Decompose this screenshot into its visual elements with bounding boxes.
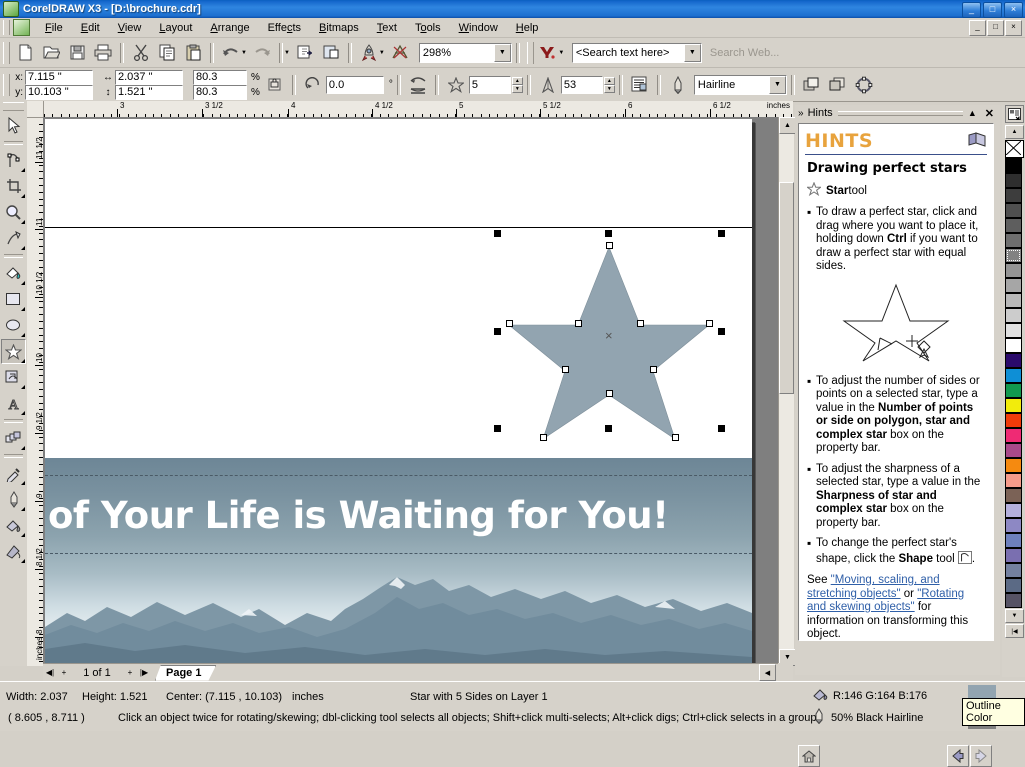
add-page-before-button[interactable]: + [57,666,71,680]
status-units: inches [292,691,324,703]
sharpness-field[interactable]: 53 [561,76,603,94]
ruler-major-tick [35,501,43,502]
toolbox-grip[interactable] [3,102,24,111]
to-back-icon[interactable] [825,72,851,97]
ruler-major-tick [35,229,43,230]
toolbar-separator [516,43,520,63]
doc-close-button[interactable]: × [1005,20,1022,36]
toolbox: A [0,101,28,666]
palette-swatch[interactable] [1005,533,1022,548]
ruler-major-tick [35,365,43,366]
shape-node[interactable] [650,366,657,373]
menu-grip[interactable] [3,20,10,35]
ruler-major-tick [117,109,118,117]
outline-tool[interactable] [1,487,26,512]
maximize-button[interactable]: □ [983,2,1002,18]
percent-label-h: % [251,72,260,83]
fill-tool[interactable] [1,513,26,538]
star-object[interactable]: × [505,234,713,432]
hints-subheading: Drawing perfect stars [807,161,985,176]
star-points-stepper[interactable]: ▲▼ [512,77,523,92]
ruler-major-tick [456,109,457,117]
hints-docker: » Hints ▲ ✕ HINTS Drawing perfect stars … [795,105,1000,675]
page-tab-page-1[interactable]: Page 1 [155,665,216,681]
flyout-arrow-icon[interactable] [21,411,25,415]
palette-swatches [1002,158,1025,608]
save-icon[interactable] [64,40,90,65]
status-height: Height: 1.521 [82,691,147,703]
flyout-arrow-icon[interactable] [21,194,25,198]
menu-item-text[interactable]: Text [368,20,406,36]
flyout-arrow-icon[interactable] [21,559,25,563]
hints-tool-suffix: tool [848,185,867,197]
import-icon[interactable] [292,40,318,65]
y-position-field[interactable]: 10.103 " [25,85,93,100]
scroll-up-button[interactable]: ▲ [779,117,796,134]
property-separator-2 [397,75,401,95]
star-icon [807,182,821,199]
docker-title-rule [838,111,963,116]
hints-tool-line: Star tool [807,182,985,199]
doc-restore-button[interactable]: □ [987,20,1004,36]
docker-title: Hints [808,107,833,119]
palette-scroll-up-button[interactable]: ▲ [1005,125,1024,139]
menu-item-tools[interactable]: Tools [406,20,450,36]
rectangle-tool[interactable] [1,287,26,312]
palette-swatch[interactable] [1005,428,1022,443]
flyout-arrow-icon[interactable] [21,507,25,511]
see-mid: or [901,588,918,600]
no-color-swatch[interactable] [1005,140,1024,158]
menu-item-window[interactable]: Window [450,20,507,36]
shape-node[interactable] [540,434,547,441]
property-separator-1 [292,75,296,95]
palette-swatch[interactable] [1005,338,1022,353]
scrollbar-corner [778,663,793,680]
hint-bullet: ▪ To draw a perfect star, click and drag… [807,206,985,274]
pick-tool[interactable] [1,113,26,138]
palette-swatch[interactable] [1005,353,1022,368]
palette-swatch[interactable] [1005,383,1022,398]
search-web-label[interactable]: Search Web... [710,47,780,59]
percent-label-v: % [251,87,260,98]
paste-icon[interactable] [180,40,206,65]
palette-swatch[interactable] [1005,323,1022,338]
search-chevron-down-icon[interactable]: ▼ [684,44,701,62]
perfect-shapes-tool[interactable] [1,365,26,390]
add-page-after-button[interactable]: + [123,666,137,680]
palette-swatch[interactable] [1005,263,1022,278]
open-icon[interactable] [38,40,64,65]
palette-swatch[interactable] [1005,368,1022,383]
yahoo-icon [539,45,557,60]
shape-node[interactable] [562,366,569,373]
flyout-arrow-icon[interactable] [21,281,25,285]
toolbox-tools: A [0,113,27,564]
shape-node[interactable] [706,320,713,327]
palette-swatch[interactable] [1005,308,1022,323]
standard-toolbar: ▼▼▼ 298% ▼ ▼ <Search text here> ▼ Search… [0,38,1025,68]
property-bar-grip[interactable] [3,74,10,96]
new-icon[interactable] [12,40,38,65]
hint-text: . [972,553,975,565]
flyout-arrow-icon[interactable] [21,333,25,337]
menu-item-edit[interactable]: Edit [72,20,109,36]
palette-swatch[interactable] [1005,458,1022,473]
toolbar-separator [210,43,214,63]
svg-text:A: A [8,398,19,412]
page-divider-line [45,227,752,228]
star-tool[interactable] [1,339,26,364]
shape-node[interactable] [575,320,582,327]
ellipse-tool[interactable] [1,313,26,338]
shape-node[interactable] [637,320,644,327]
toolbox-separator [4,419,23,423]
search-input[interactable]: <Search text here> ▼ [572,43,702,63]
ruler-label: 6 [628,101,632,110]
palette-swatch[interactable] [1005,293,1022,308]
outline-chevron-down-icon[interactable]: ▼ [769,76,786,94]
property-bar: x: 7.115 " y: 10.103 " ↔ 2.037 " ↕ 1.521… [0,68,1025,102]
palette-swatch[interactable] [1005,278,1022,293]
hints-bullets-top: ▪ To draw a perfect star, click and drag… [807,206,985,274]
vertical-scrollbar[interactable]: ▲ ▼ [778,117,794,666]
menu-item-arrange[interactable]: Arrange [201,20,258,36]
flyout-arrow-icon[interactable] [21,481,25,485]
selection-handle[interactable] [494,328,501,335]
hint-bullet-text: To draw a perfect star, click and drag w… [816,206,985,274]
interactive-blend-tool[interactable] [1,426,26,451]
palette-swatch[interactable] [1005,548,1022,563]
flyout-arrow-icon[interactable] [21,246,25,250]
search-toolbar-grip[interactable] [527,42,534,64]
hint-emphasis: Ctrl [887,233,907,245]
palette-swatch[interactable] [1005,578,1022,593]
palette-options-icon[interactable] [1005,105,1024,123]
x-label: x: [12,72,23,83]
hints-see-also: See "Moving, scaling, and stretching obj… [807,574,985,641]
selection-handle[interactable] [718,230,725,237]
selection-handle[interactable] [494,230,501,237]
hints-content[interactable]: HINTS Drawing perfect stars Star tool ▪ … [798,123,994,641]
cut-icon[interactable] [128,40,154,65]
menu-item-file[interactable]: File [36,20,72,36]
ruler-label: 3 1/2 [205,101,223,110]
ruler-major-tick [625,109,626,117]
flyout-arrow-icon[interactable] [21,385,25,389]
window-controls: _ □ × [962,2,1023,18]
mountain-photo-object[interactable]: e of Your Life is Waiting for You! [45,458,752,664]
ruler-label: 6 1/2 [713,101,731,110]
window-title: CorelDRAW X3 - [D:\brochure.cdr] [23,3,201,15]
menu-item-help[interactable]: Help [507,20,548,36]
hint-text: To adjust the sharpness of a selected st… [816,463,980,489]
toolbox-separator [4,454,23,458]
minimize-button[interactable]: _ [962,2,981,18]
smart-fill-tool[interactable] [1,261,26,286]
status-cursor-position: ( 8.605 , 8.711 ) [8,712,85,724]
wrap-paragraph-text-icon[interactable] [627,72,653,97]
menu-item-effects[interactable]: Effects [259,20,310,36]
outline-width-value: Hairline [698,79,735,91]
headline-text[interactable]: e of Your Life is Waiting for You! [45,494,668,537]
shape-tool[interactable] [1,148,26,173]
shape-node[interactable] [606,390,613,397]
hint-emphasis: Shape [898,553,933,565]
palette-swatch[interactable] [1005,488,1022,503]
degree-label: ° [389,79,393,90]
selection-handle[interactable] [605,230,612,237]
hint-bullet-text: To adjust the number of sides or points … [816,375,985,456]
eyedropper-tool[interactable] [1,461,26,486]
hints-bullets-rest: ▪To adjust the number of sides or points… [807,375,985,567]
bullet-marker: ▪ [807,537,816,566]
flyout-arrow-icon[interactable] [21,220,25,224]
rotate-icon [300,72,326,97]
document-icon[interactable] [13,19,30,36]
palette-swatch[interactable] [1005,563,1022,578]
chevron-down-icon[interactable]: ▼ [379,50,385,56]
copy-icon[interactable] [154,40,180,65]
outline-width-combo[interactable]: Hairline ▼ [694,75,787,95]
sharpness-stepper[interactable]: ▲▼ [604,77,615,92]
ruler-major-tick [288,109,289,117]
export-icon[interactable] [318,40,344,65]
status-center: Center: (7.115 , 10.103) [166,691,282,703]
palette-swatch[interactable] [1005,398,1022,413]
scale-factor-group: 80.3 % 80.3 % [193,70,260,100]
width-icon: ↔ [101,72,115,83]
menu-bar: FileEditViewLayoutArrangeEffectsBitmapsT… [0,18,1025,38]
star-illustration [799,281,993,369]
hint-bullet: ▪To adjust the number of sides or points… [807,375,985,456]
shape-node[interactable] [672,434,679,441]
hints-tool-name: Star [826,185,848,197]
star-points-field[interactable]: 5 [469,76,511,94]
print-icon[interactable] [90,40,116,65]
zoom-level-value: 298% [423,47,451,59]
chevron-down-icon[interactable]: ▼ [494,44,511,62]
status-fill-row[interactable]: R:146 G:164 B:176 [812,687,927,704]
palette-swatch[interactable] [1005,173,1022,188]
forward-icon[interactable] [970,745,992,767]
back-icon[interactable] [947,745,969,767]
first-page-button[interactable]: ◀| [43,666,57,680]
status-hint-text: Click an object twice for rotating/skewi… [118,712,816,724]
height-field[interactable]: 1.521 " [115,85,183,100]
status-outline-row[interactable]: 50% Black Hairline [812,708,923,727]
redo-icon[interactable] [249,40,275,65]
horizontal-ruler[interactable]: 33 1/244 1/255 1/266 1/2inches [27,101,793,118]
flyout-arrow-icon[interactable] [21,359,25,363]
hints-heading: HINTS [805,130,873,152]
property-separator-3 [435,75,439,95]
toolbar-separator [279,43,283,63]
selection-handle[interactable] [494,425,501,432]
vertical-ruler[interactable]: 11 1/21110 1/2109 1/298 1/287 1/2inches [27,117,44,666]
width-field[interactable]: 2.037 " [115,70,183,85]
outline-pen-icon[interactable] [665,72,691,97]
toolbar-separator [348,43,352,63]
chevron-down-icon[interactable]: ▼ [284,50,290,56]
freehand-tool[interactable] [1,226,26,251]
ruler-major-tick [372,109,373,117]
palette-swatch[interactable] [1005,188,1022,203]
property-separator-4 [527,75,531,95]
selection-handle[interactable] [605,425,612,432]
toolbox-separator [4,254,23,258]
interactive-fill-tool[interactable] [1,539,26,564]
doc-minimize-button[interactable]: _ [969,20,986,36]
palette-swatch[interactable] [1005,248,1022,263]
zoom-level-combo[interactable]: 298% ▼ [419,43,512,63]
status-outline-value: 50% Black Hairline [831,712,923,724]
status-width: Width: 2.037 [6,691,68,703]
palette-swatch[interactable] [1005,218,1022,233]
x-position-field[interactable]: 7.115 " [25,70,93,85]
document-page[interactable]: e of Your Life is Waiting for You! [45,119,752,664]
flyout-arrow-icon[interactable] [21,307,25,311]
ruler-label: 5 [459,101,463,110]
palette-swatch[interactable] [1005,518,1022,533]
palette-swatch[interactable] [1005,503,1022,518]
docker-pin-icon[interactable]: » [798,108,804,119]
flyout-arrow-icon[interactable] [21,533,25,537]
ruler-major-tick [35,433,43,434]
palette-swatch[interactable] [1005,158,1022,173]
convert-outline-to-object-icon[interactable] [851,72,877,97]
corel-online-icon[interactable] [387,40,413,65]
zoom-tool[interactable] [1,200,26,225]
shape-node[interactable] [606,242,613,249]
docker-close-icon[interactable]: ✕ [985,107,994,120]
docker-footer [798,745,992,767]
vertical-scroll-thumb[interactable] [779,182,794,394]
ruler-major-tick [35,162,43,163]
text-frame-top-guide [45,475,752,476]
drawing-canvas[interactable]: e of Your Life is Waiting for You! [43,117,793,666]
page-shadow [752,123,756,666]
menu-item-layout[interactable]: Layout [150,20,201,36]
status-object-info: Star with 5 Sides on Layer 1 [410,691,548,703]
sharpness-icon [535,72,561,97]
crop-tool[interactable] [1,174,26,199]
status-bar: Width: 2.037 Height: 1.521 Center: (7.11… [0,681,1025,731]
selection-handle[interactable] [718,328,725,335]
app-icon [3,1,19,17]
bullet-marker: ▪ [807,375,816,456]
scale-horizontal-field[interactable]: 80.3 [193,70,247,85]
status-fill-value: R:146 G:164 B:176 [833,690,927,702]
page-count-label: 1 of 1 [71,667,123,679]
hints-title-rule [805,154,987,155]
palette-swatch[interactable] [1005,473,1022,488]
hint-bullet: ▪To adjust the sharpness of a selected s… [807,463,985,531]
palette-swatch[interactable] [1005,443,1022,458]
bullet-marker: ▪ [807,206,816,274]
rotation-center-marker[interactable]: × [605,331,613,341]
palette-swatch[interactable] [1005,593,1022,608]
palette-scroll-down-button[interactable]: ▼ [1005,609,1024,623]
toolbar-separator [120,43,124,63]
ruler-major-tick [540,109,541,117]
ruler-label: 5 1/2 [543,101,561,110]
ruler-major-tick [35,297,43,298]
shape-node[interactable] [506,320,513,327]
hint-bullet-text: To adjust the sharpness of a selected st… [816,463,985,531]
outline-pen-icon [812,708,826,727]
property-separator-6 [657,75,661,95]
outline-color-tooltip: Outline Color [962,698,1025,726]
flyout-arrow-icon[interactable] [21,168,25,172]
mountain-range [45,569,752,664]
bullet-marker: ▪ [807,463,816,531]
palette-swatch[interactable] [1005,413,1022,428]
to-front-icon[interactable] [799,72,825,97]
ruler-major-tick [35,569,43,570]
book-icon[interactable] [967,131,987,152]
property-separator-7 [791,75,795,95]
scale-vertical-field[interactable]: 80.3 [193,85,247,100]
rotation-angle-field[interactable]: 0.0 [326,76,384,94]
property-separator-5 [619,75,623,95]
lock-ratio-icon[interactable] [262,72,288,97]
last-page-button[interactable]: |▶ [137,666,151,680]
height-icon: ↕ [101,87,115,98]
palette-swatch[interactable] [1005,203,1022,218]
hint-bullet-text: To change the perfect star's shape, clic… [816,537,985,566]
yahoo-search-button[interactable]: ▼ [536,40,568,65]
text-tool[interactable]: A [1,391,26,416]
horizontal-scroll-left-button[interactable]: ◀ [759,664,776,681]
ruler-major-tick [710,109,711,117]
menu-items: FileEditViewLayoutArrangeEffectsBitmapsT… [36,20,547,36]
palette-swatch[interactable] [1005,233,1022,248]
object-size-group: ↔ 2.037 " ↕ 1.521 " [101,70,183,100]
flyout-arrow-icon[interactable] [21,446,25,450]
menu-item-bitmaps[interactable]: Bitmaps [310,20,368,36]
see-prefix: See [807,574,831,586]
ruler-label: 4 [291,101,295,110]
search-value: <Search text here> [576,47,670,59]
toolbox-separator [4,141,23,145]
page-navigator: ◀| + 1 of 1 + |▶ Page 1 ◀ [43,663,778,681]
selection-handle[interactable] [718,425,725,432]
fill-swatch-icon [812,687,828,704]
standard-toolbar-buttons: ▼▼▼ [12,40,413,65]
ruler-unit-label: inches [767,101,790,110]
chevron-down-icon[interactable]: ▼ [241,50,247,56]
docker-header: » Hints ▲ ✕ [795,105,1000,121]
coreldraw-window: CorelDRAW X3 - [D:\brochure.cdr] _ □ × F… [0,0,1025,730]
mirror-buttons-group[interactable] [405,72,431,97]
home-icon[interactable] [798,745,820,767]
ruler-origin-button[interactable] [27,101,44,118]
text-frame-bottom-guide [45,553,752,554]
docker-collapse-icon[interactable]: ▲ [968,108,977,118]
color-palette: ▲ ▼ |◀ [1002,105,1025,677]
object-position-group: x: 7.115 " y: 10.103 " [12,70,93,100]
hint-bullet: ▪To change the perfect star's shape, cli… [807,537,985,566]
palette-scroll-end-button[interactable]: |◀ [1005,624,1024,638]
close-button[interactable]: × [1004,2,1023,18]
title-bar: CorelDRAW X3 - [D:\brochure.cdr] _ □ × [0,0,1025,18]
toolbar-grip[interactable] [3,42,10,64]
ruler-label: 4 1/2 [375,101,393,110]
y-label: y: [12,87,23,98]
menu-item-view[interactable]: View [109,20,151,36]
document-window-controls: _ □ × [969,20,1022,36]
